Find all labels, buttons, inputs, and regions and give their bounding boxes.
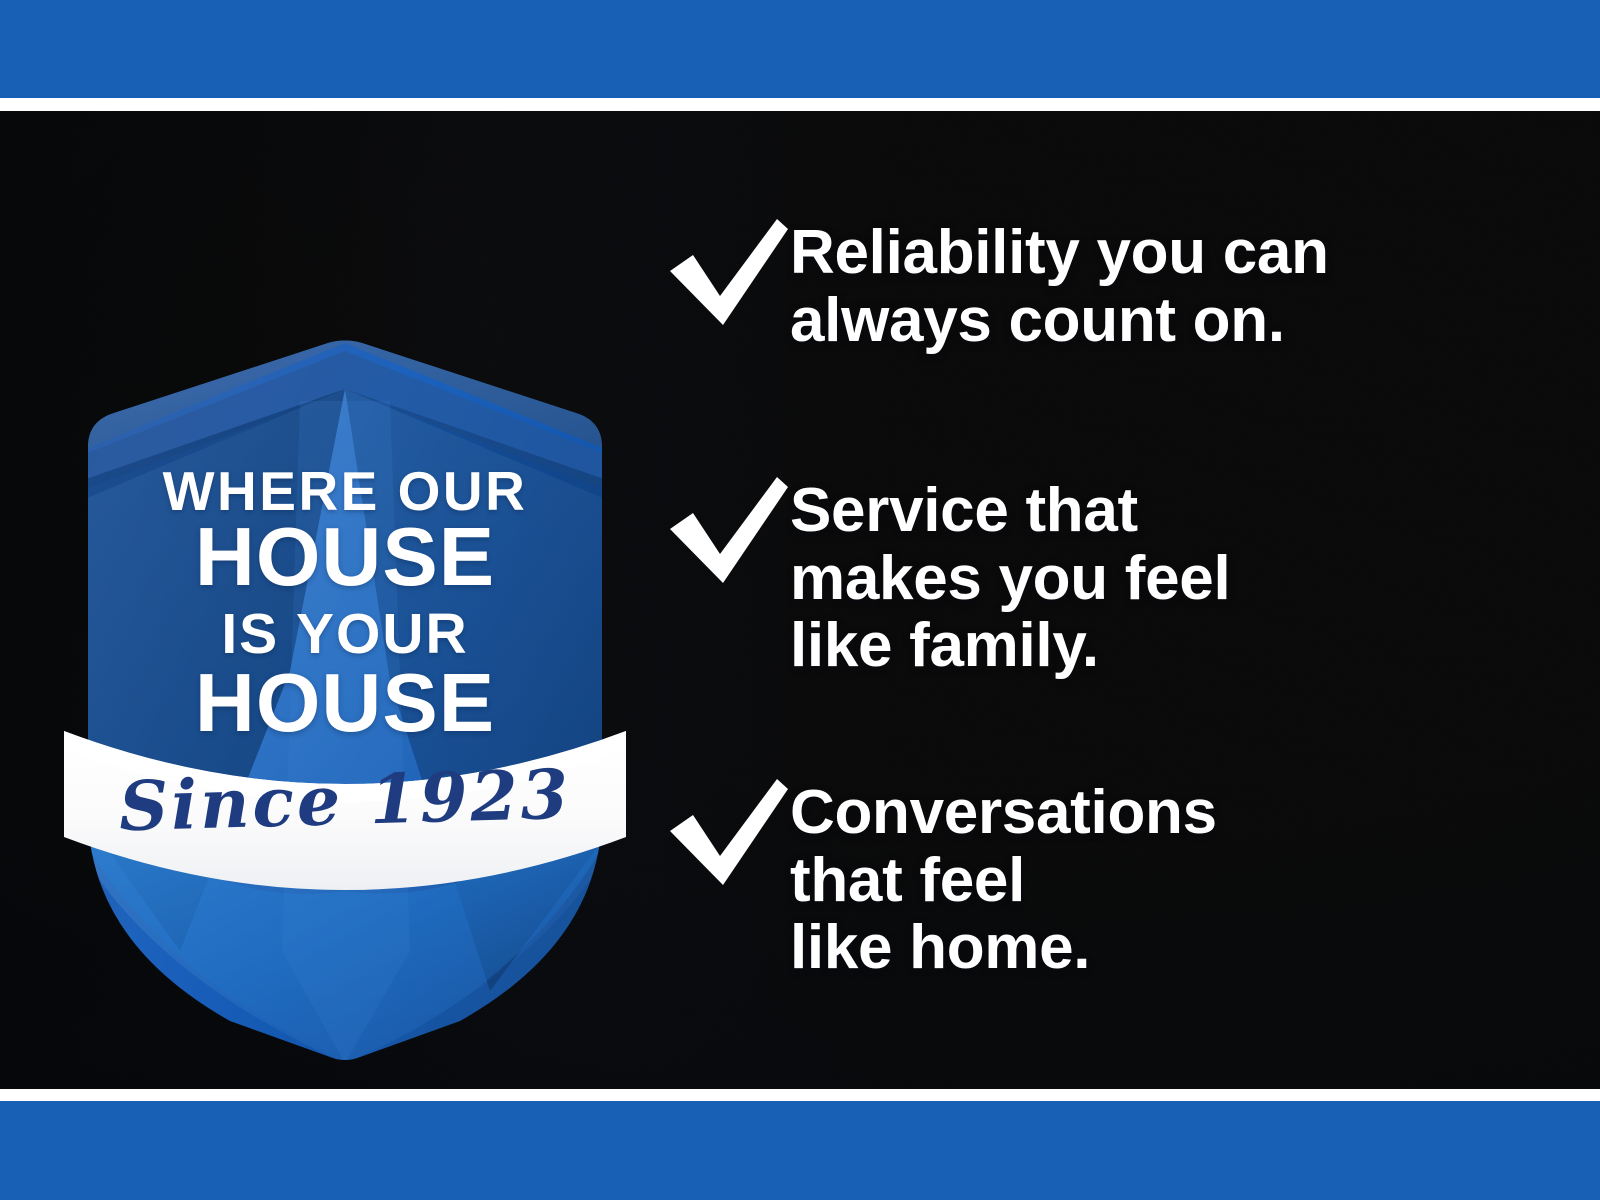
benefit-text: Reliability you can always count on. bbox=[790, 211, 1540, 354]
shield-ribbon-text: Since 1923 bbox=[59, 759, 631, 843]
top-brand-bar bbox=[0, 0, 1600, 98]
bottom-white-divider bbox=[0, 1089, 1600, 1101]
shield-badge: WHERE OUR HOUSE IS YOUR HOUSE Since 1923 bbox=[60, 251, 630, 1061]
benefit-item: Reliability you can always count on. bbox=[660, 211, 1540, 354]
check-icon bbox=[660, 213, 790, 333]
check-icon bbox=[660, 773, 790, 893]
shield-line-is-your: IS YOUR bbox=[60, 606, 630, 663]
check-icon bbox=[660, 471, 790, 591]
benefit-item: Conversations that feel like home. bbox=[660, 771, 1540, 982]
shield-line-house-2: HOUSE bbox=[60, 661, 630, 744]
top-white-divider bbox=[0, 98, 1600, 111]
promo-poster: WHERE OUR HOUSE IS YOUR HOUSE Since 1923… bbox=[0, 0, 1600, 1200]
benefit-text: Conversations that feel like home. bbox=[790, 771, 1540, 982]
shield-line-house-1: HOUSE bbox=[60, 515, 630, 598]
bottom-brand-bar bbox=[0, 1101, 1600, 1200]
benefit-item: Service that makes you feel like family. bbox=[660, 469, 1540, 680]
benefit-text: Service that makes you feel like family. bbox=[790, 469, 1540, 680]
poster-canvas: WHERE OUR HOUSE IS YOUR HOUSE Since 1923… bbox=[0, 111, 1600, 1089]
